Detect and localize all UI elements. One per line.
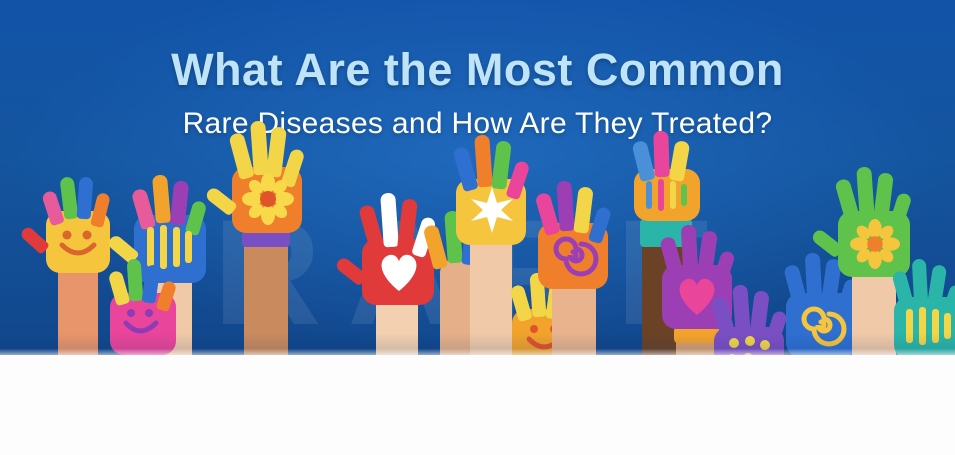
ground-surface xyxy=(0,355,955,455)
finger xyxy=(152,174,171,223)
finger xyxy=(474,135,493,188)
stripes-icon xyxy=(642,175,692,215)
star-burst-icon xyxy=(466,185,518,235)
finger xyxy=(732,285,750,336)
finger xyxy=(856,167,875,220)
flower-icon xyxy=(850,219,900,269)
finger xyxy=(653,131,670,177)
finger xyxy=(681,225,698,274)
heart-icon xyxy=(374,249,424,295)
spiral-icon xyxy=(548,231,598,279)
smiley-face-icon xyxy=(54,221,102,265)
finger xyxy=(912,259,928,306)
flower-icon xyxy=(242,173,294,225)
finger xyxy=(805,253,822,302)
finger xyxy=(380,193,399,248)
finger xyxy=(127,259,144,302)
finger xyxy=(77,177,94,220)
finger xyxy=(556,181,574,232)
rare-disease-hero-banner: RARE What Are the Most Common Rare Disea… xyxy=(0,0,955,455)
